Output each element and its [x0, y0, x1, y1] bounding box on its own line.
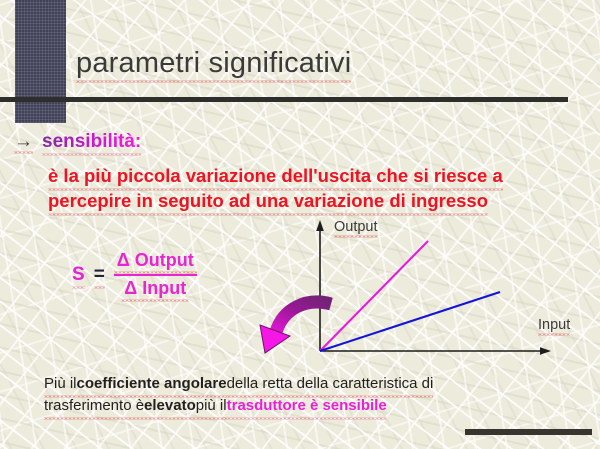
formula-symbol-s: S — [72, 264, 85, 286]
x-axis-label-text: Input — [538, 317, 570, 333]
footer-accent-rule — [465, 429, 592, 435]
page-title: parametri significativi — [76, 47, 351, 80]
transfer-characteristic-chart: Output Input — [230, 215, 600, 365]
page-title-text: parametri significativi — [76, 47, 351, 80]
y-axis-label-text: Output — [334, 219, 378, 235]
conclusion-text-1c: della retta della caratteristica di — [227, 373, 434, 395]
sensitivity-formula: S = Δ Output Δ Input — [72, 250, 197, 299]
definition-paragraph: è la più piccola variazione dell'uscita … — [48, 163, 568, 213]
conclusion-line-1: Più il coefficiente angolare della retta… — [44, 373, 564, 395]
series-line-alta-sensibilita — [320, 241, 428, 351]
bullet-term-label: sensibilità: — [42, 131, 141, 153]
formula-numerator: Δ Output — [114, 250, 197, 271]
conclusion-paragraph: Più il coefficiente angolare della retta… — [44, 373, 564, 417]
title-divider-rule — [0, 97, 568, 102]
definition-line-1: è la più piccola variazione dell'uscita … — [48, 163, 568, 188]
chart-svg — [230, 215, 600, 365]
conclusion-text-1a: Più il — [44, 373, 77, 395]
y-axis — [316, 220, 324, 351]
bullet-sensibilita: → sensibilità: — [14, 131, 141, 153]
x-axis-label: Input — [538, 317, 570, 333]
definition-line-2: percepire in seguito ad una variazione d… — [48, 188, 568, 213]
x-axis — [320, 347, 551, 355]
formula-equals-sign: = — [94, 264, 105, 286]
title-accent-bar — [15, 0, 66, 123]
formula-fraction: Δ Output Δ Input — [114, 250, 197, 299]
conclusion-text-2d: trasduttore è sensibile — [227, 395, 387, 417]
slide-canvas: parametri significativi → sensibilità: è… — [0, 0, 600, 449]
right-arrow-icon: → — [14, 132, 33, 151]
definition-line-2-text: percepire in seguito ad una variazione d… — [48, 188, 488, 213]
conclusion-text-2a: trasferimento è — [44, 395, 144, 417]
conclusion-line-2: trasferimento è elevato più il trasdutto… — [44, 395, 564, 417]
series-line-bassa-sensibilita — [320, 292, 500, 351]
conclusion-text-2c: più il — [196, 395, 227, 417]
definition-line-1-text: è la più piccola variazione dell'uscita … — [48, 163, 503, 188]
conclusion-text-2b: elevato — [144, 395, 196, 417]
y-axis-label: Output — [334, 219, 378, 235]
formula-fraction-bar — [114, 274, 197, 276]
conclusion-text-1b: coefficiente angolare — [77, 373, 227, 395]
formula-denominator: Δ Input — [121, 278, 189, 299]
